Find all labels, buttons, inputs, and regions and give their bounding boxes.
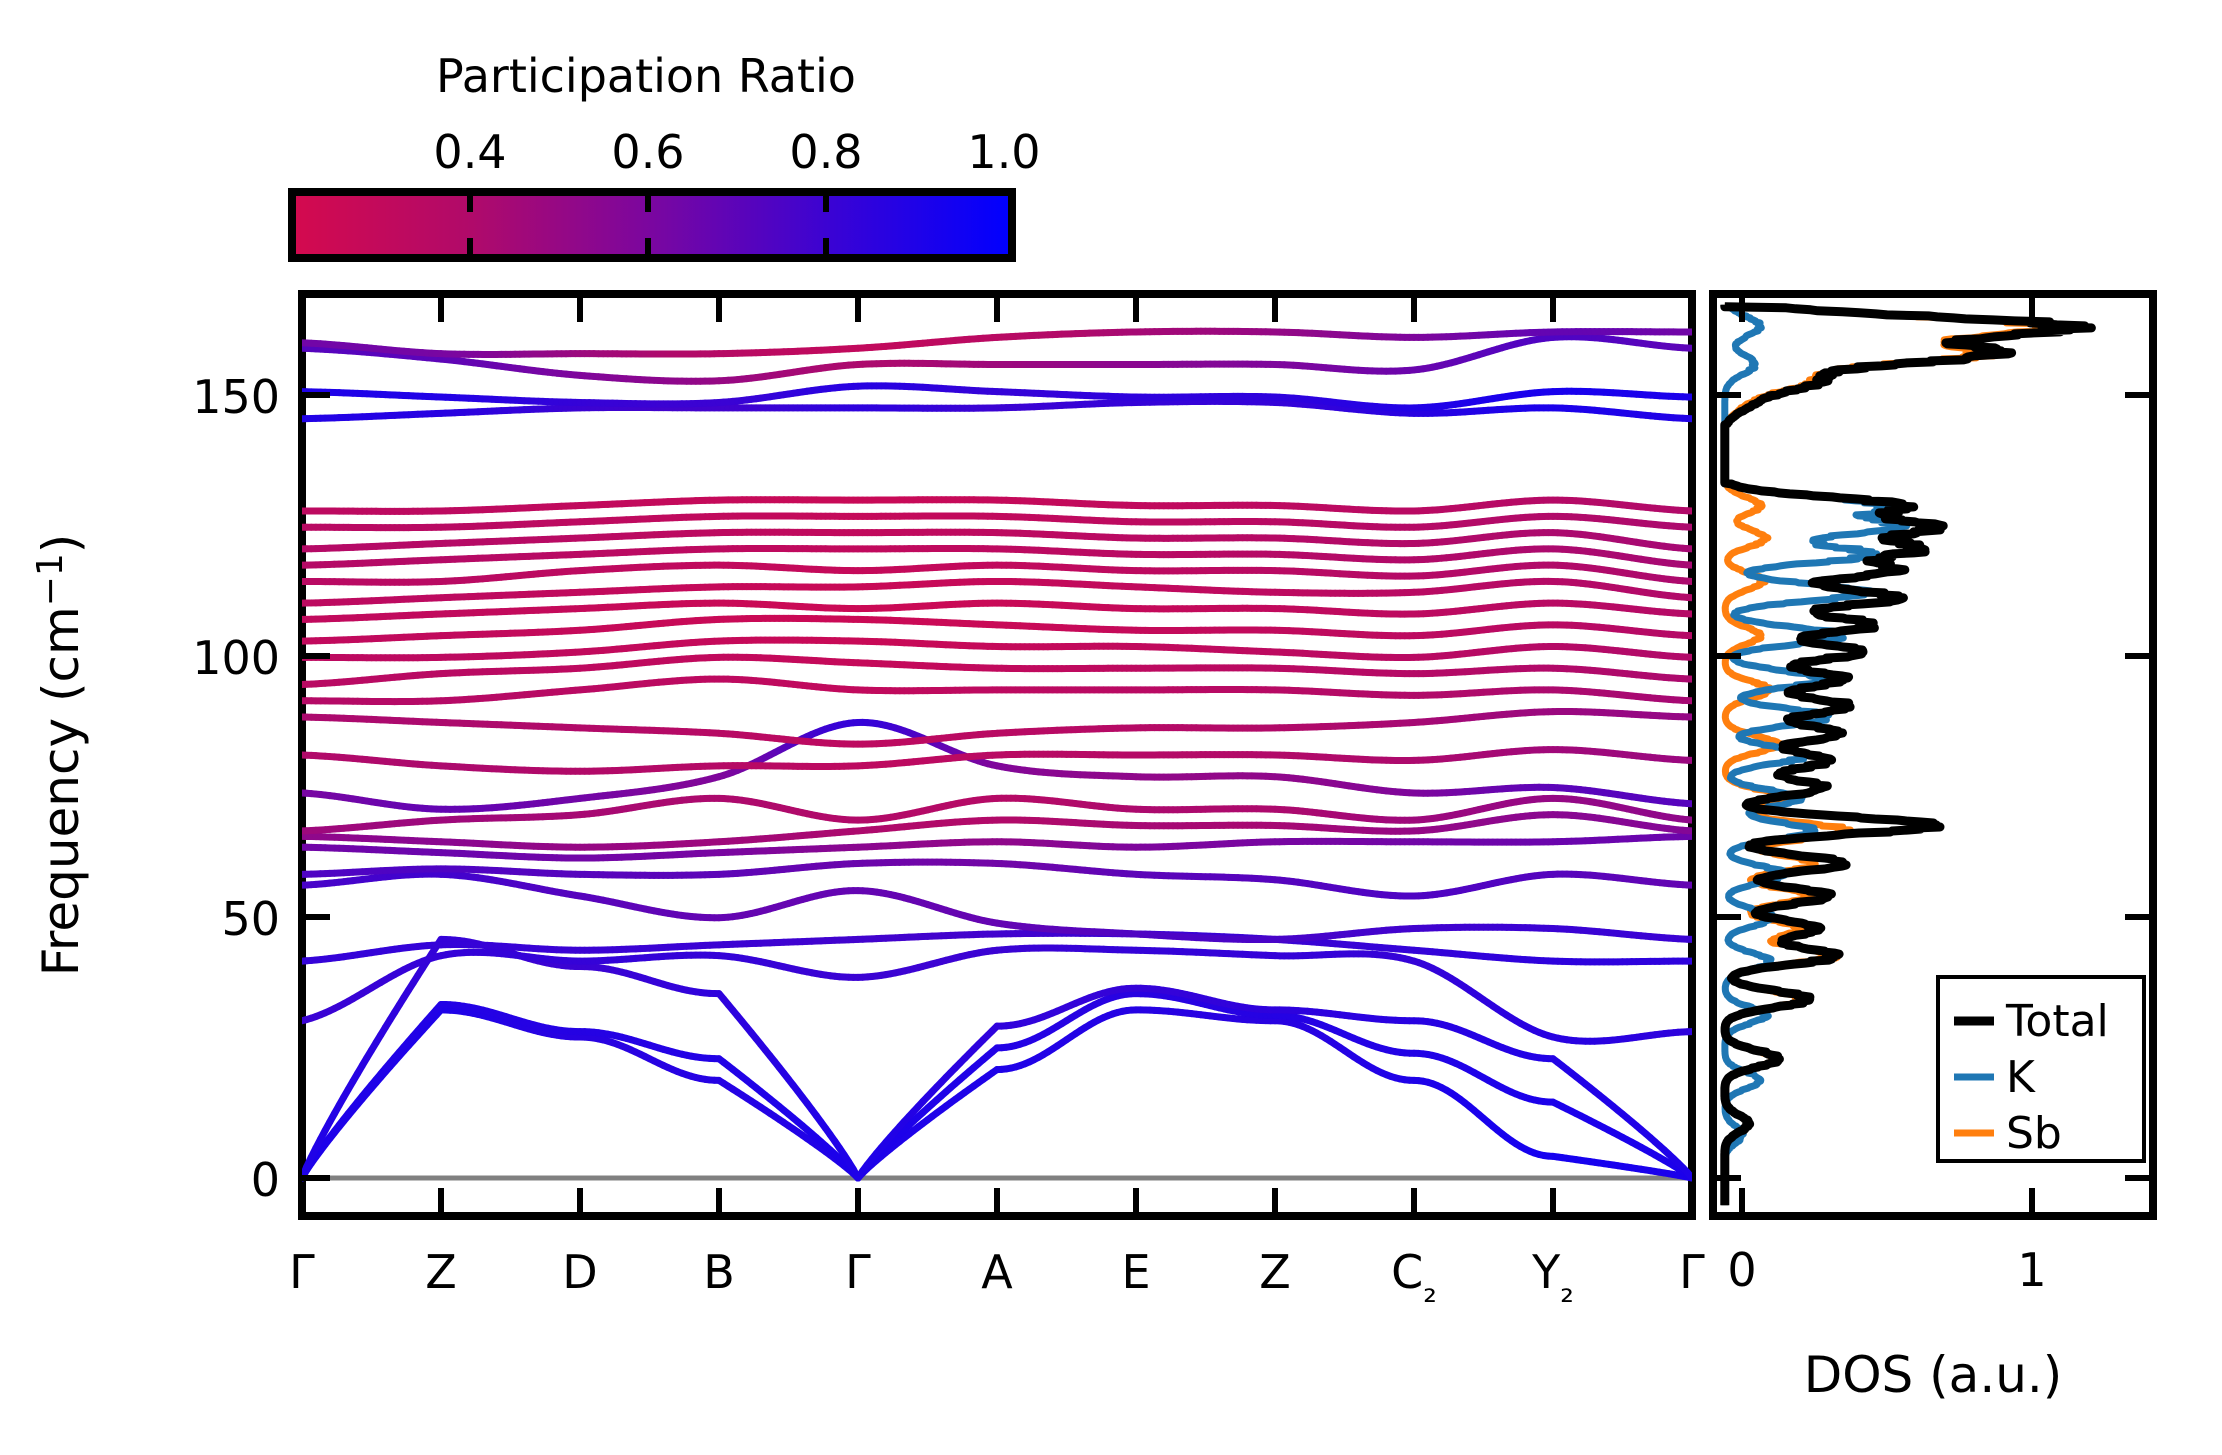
band-xtick-label-7: Z bbox=[1259, 1245, 1291, 1299]
band-xtick-label-5: A bbox=[981, 1245, 1013, 1299]
dos-legend[interactable]: Total K Sb bbox=[1938, 977, 2144, 1161]
band-ytick-label-150: 150 bbox=[192, 370, 280, 424]
band-ytick-label-0: 0 bbox=[251, 1153, 280, 1207]
band-xtick-label-3: B bbox=[703, 1245, 735, 1299]
band-xtick-label-6: E bbox=[1121, 1245, 1150, 1299]
colorbar-title: Participation Ratio bbox=[436, 49, 856, 103]
dos-xtick-label-0: 0 bbox=[1727, 1243, 1756, 1297]
band-xtick-label-0: Γ bbox=[289, 1245, 315, 1299]
phonon-band-dos-figure: Participation Ratio 0.4 0.6 0.8 1.0 0 50… bbox=[0, 0, 2222, 1455]
ylabel-main: Frequency (cm bbox=[32, 606, 90, 976]
band-xtick-label-4: Γ bbox=[845, 1245, 871, 1299]
colorbar-tick-1: 0.6 bbox=[611, 125, 684, 179]
dos-x-axis-label: DOS (a.u.) bbox=[1804, 1346, 2063, 1404]
dos-xtick-label-1: 1 bbox=[2017, 1243, 2046, 1297]
colorbar-gradient bbox=[292, 192, 1012, 258]
colorbar-tick-2: 0.8 bbox=[789, 125, 862, 179]
band-xtick-label-1: Z bbox=[425, 1245, 457, 1299]
figure-canvas: Participation Ratio 0.4 0.6 0.8 1.0 0 50… bbox=[0, 0, 2222, 1455]
band-xtick-label-2: D bbox=[562, 1245, 597, 1299]
colorbar-tick-3: 1.0 bbox=[967, 125, 1040, 179]
band-ytick-label-100: 100 bbox=[192, 631, 280, 685]
legend-label-sb: Sb bbox=[2006, 1108, 2062, 1159]
legend-label-k: K bbox=[2006, 1052, 2036, 1103]
colorbar-tick-0: 0.4 bbox=[433, 125, 506, 179]
legend-label-total: Total bbox=[2005, 996, 2109, 1047]
band-ytick-label-50: 50 bbox=[221, 892, 280, 946]
band-xtick-label-10: Γ bbox=[1679, 1245, 1705, 1299]
